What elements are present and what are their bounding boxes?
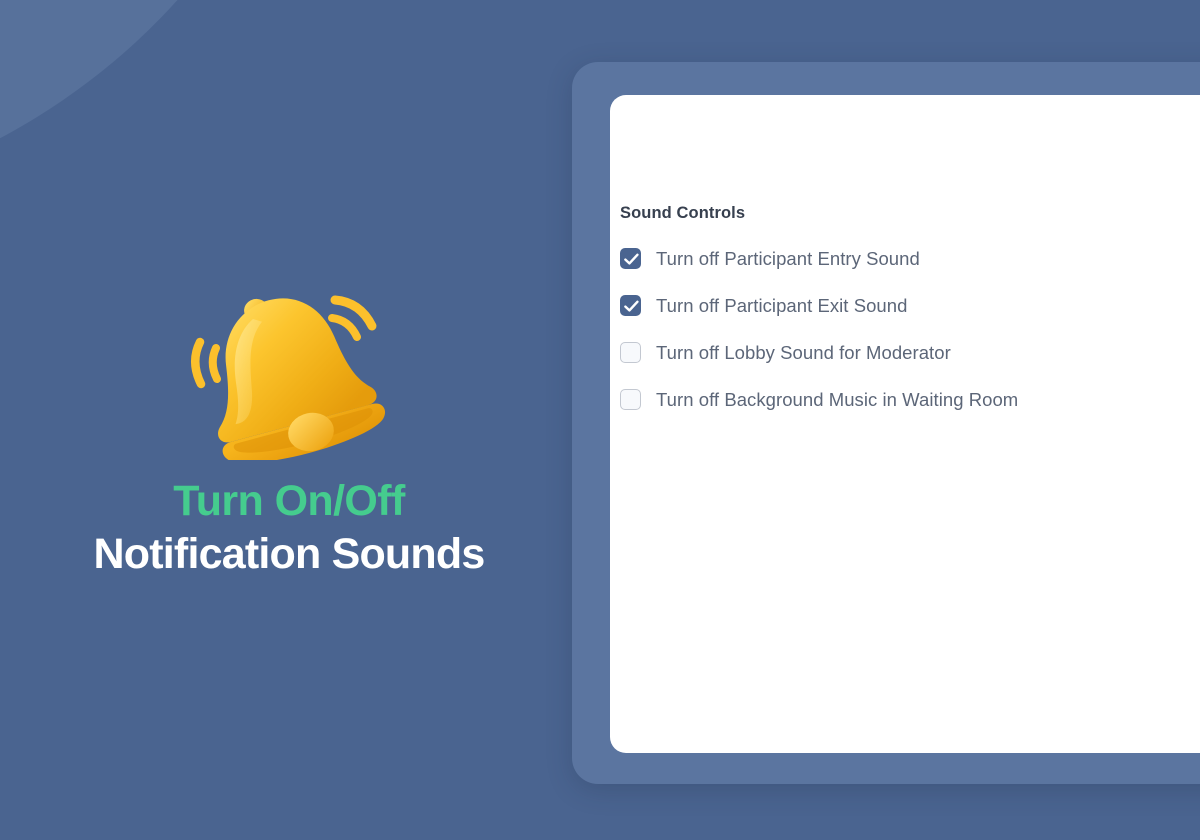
promo-screenshot: Turn On/Off Notification Sounds Sound Co… — [0, 0, 1200, 840]
sound-control-option-row[interactable]: Turn off Lobby Sound for Moderator — [620, 329, 1200, 376]
sound-control-option-row[interactable]: Turn off Background Music in Waiting Roo… — [620, 376, 1200, 423]
checkbox-unchecked-icon[interactable] — [620, 389, 641, 410]
sound-controls-option-list: Turn off Participant Entry SoundTurn off… — [620, 235, 1200, 423]
checkbox-checked-icon[interactable] — [620, 295, 641, 316]
promo-title-line-2: Notification Sounds — [94, 529, 485, 580]
settings-card: Sound Controls Turn off Participant Entr… — [610, 95, 1200, 753]
sound-controls-heading: Sound Controls — [620, 204, 1200, 223]
promo-title-line-1: Turn On/Off — [173, 478, 404, 524]
checkbox-unchecked-icon[interactable] — [620, 342, 641, 363]
sound-control-option-row[interactable]: Turn off Participant Exit Sound — [620, 282, 1200, 329]
sound-control-option-label: Turn off Participant Exit Sound — [656, 295, 907, 317]
sound-control-option-label: Turn off Lobby Sound for Moderator — [656, 342, 951, 364]
bell-ringing-icon — [174, 260, 404, 460]
promo-panel: Turn On/Off Notification Sounds — [0, 0, 578, 840]
sound-control-option-label: Turn off Participant Entry Sound — [656, 248, 920, 270]
sound-control-option-row[interactable]: Turn off Participant Entry Sound — [620, 235, 1200, 282]
sound-control-option-label: Turn off Background Music in Waiting Roo… — [656, 389, 1018, 411]
checkbox-checked-icon[interactable] — [620, 248, 641, 269]
